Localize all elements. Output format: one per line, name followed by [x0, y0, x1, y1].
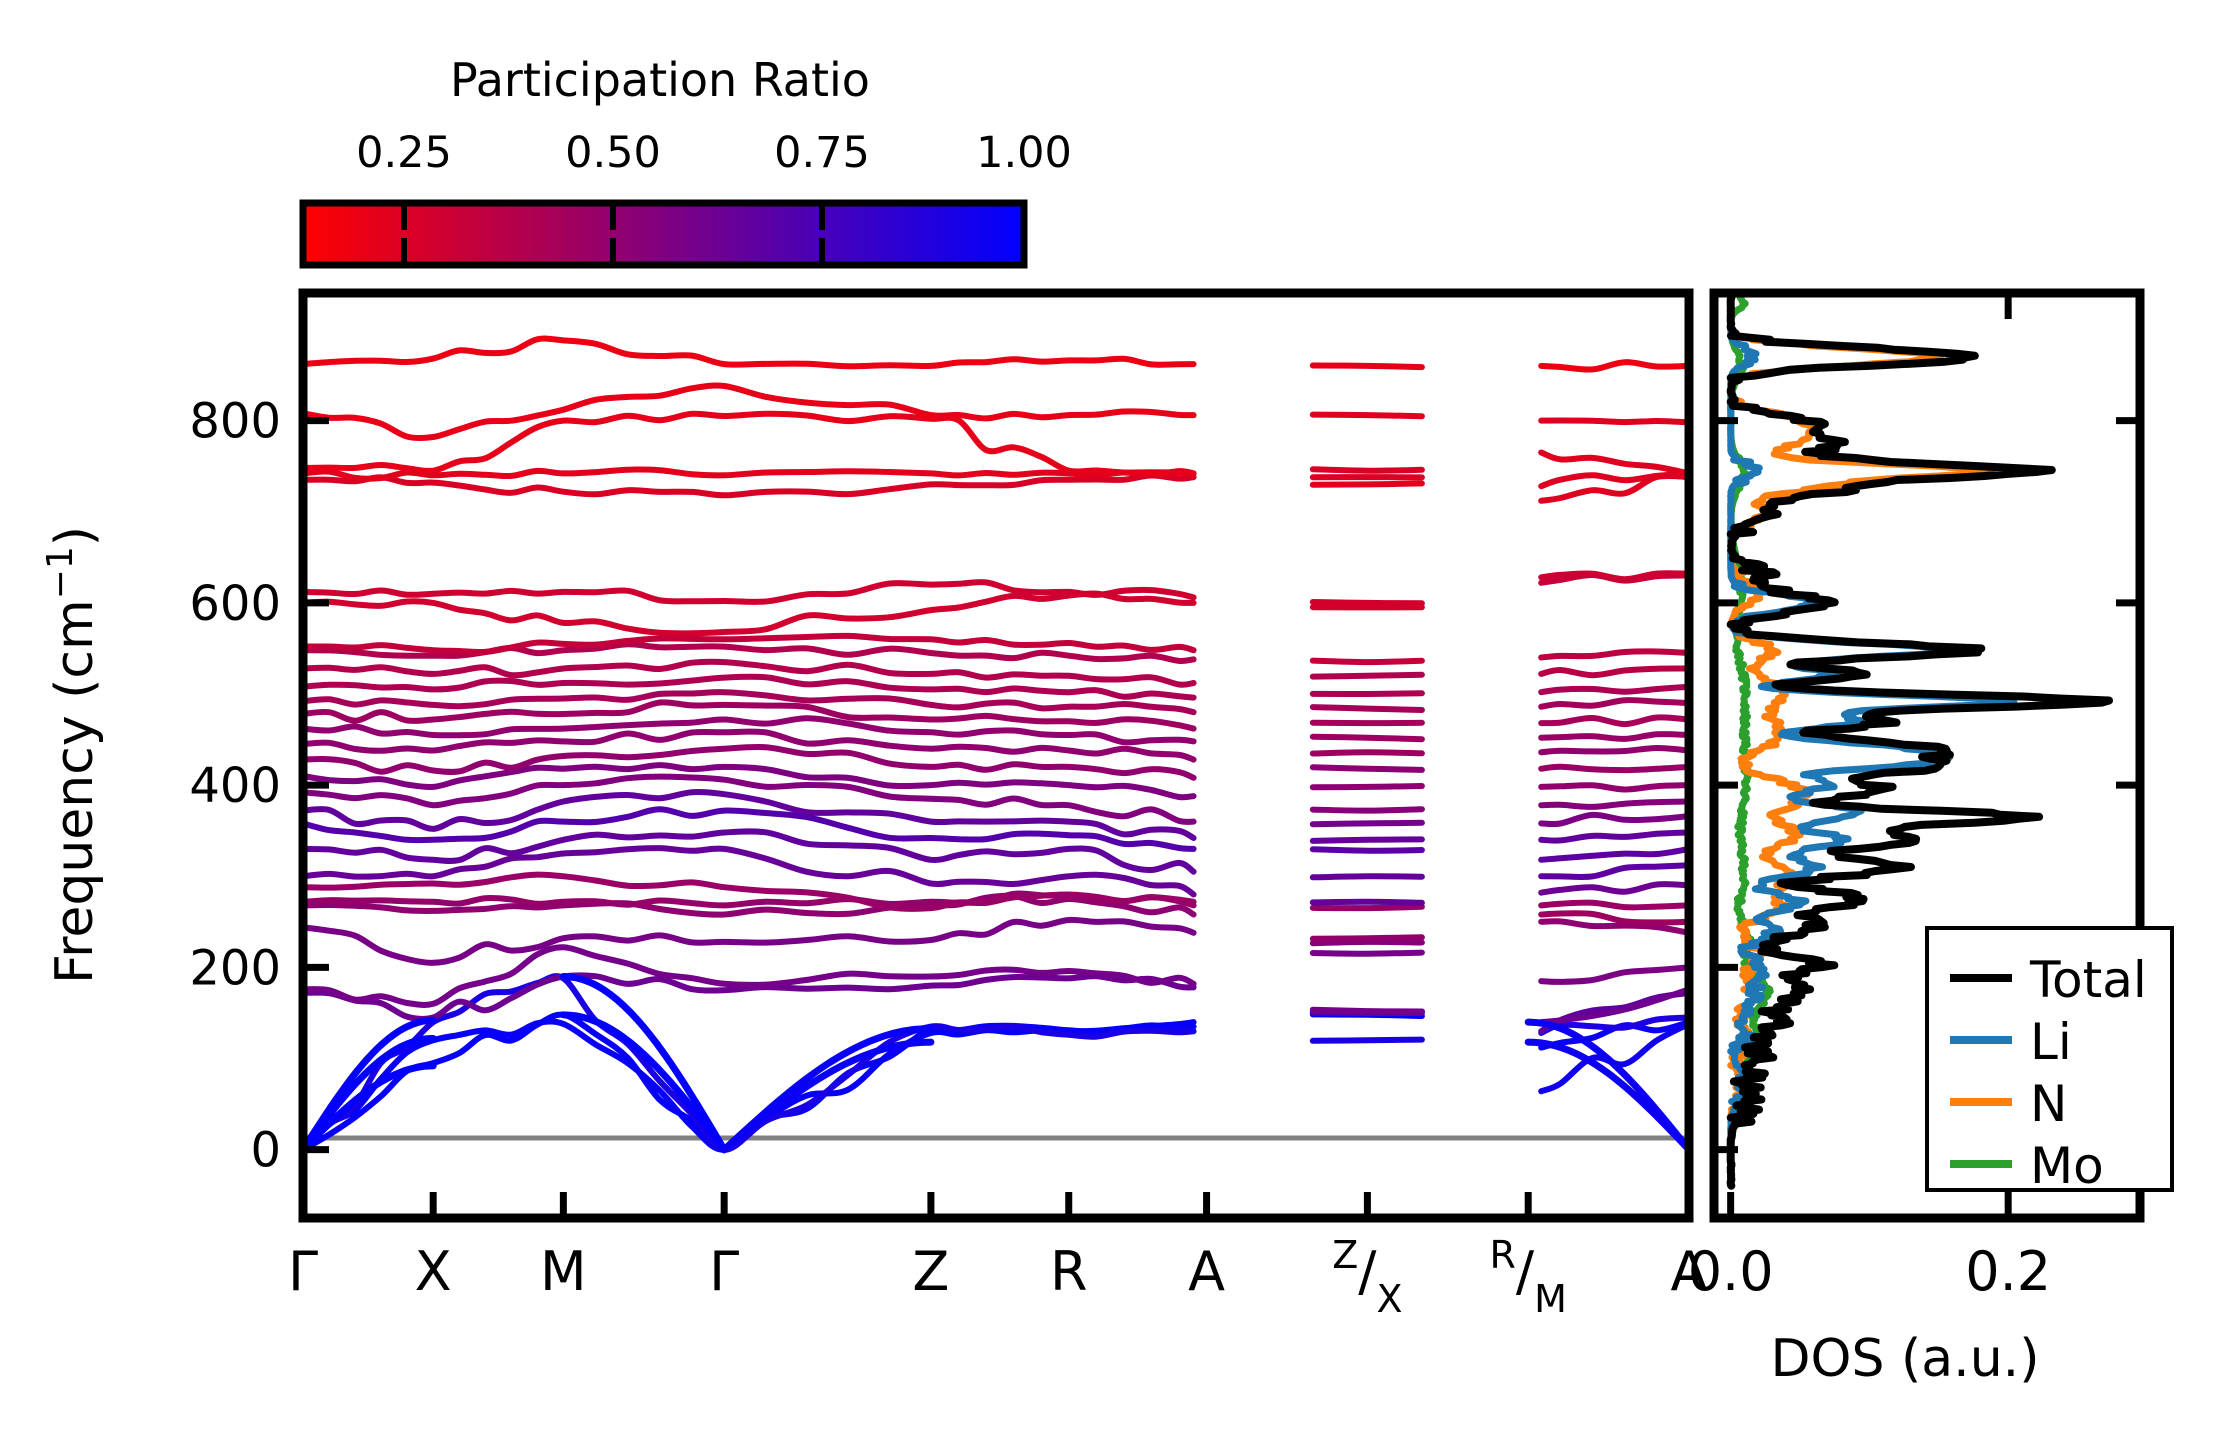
- band-curve: [1313, 809, 1422, 810]
- band-x-tick-label: Γ: [709, 1240, 739, 1303]
- band-curve: [1313, 786, 1422, 787]
- colorbar-tick-3: 1.00: [976, 128, 1072, 178]
- band-y-tick-label: 200: [189, 940, 281, 996]
- band-curve: [1313, 693, 1422, 694]
- band-curve: [1313, 602, 1422, 603]
- dos-x-axis-label: DOS (a.u.): [1771, 1329, 2040, 1389]
- colorbar-tick-2: 0.75: [774, 128, 870, 178]
- band-curve: [1313, 937, 1422, 939]
- band-curve: [1313, 876, 1422, 877]
- band-x-tick-label: Γ: [288, 1240, 318, 1303]
- band-curve: [1313, 839, 1422, 841]
- band-plot-area[interactable]: [303, 293, 1689, 1218]
- figure-root: Participation Ratio 0.25 0.50 0.75 1.00 …: [0, 0, 2222, 1455]
- band-curve: [1313, 707, 1422, 710]
- legend-label[interactable]: Li: [2030, 1013, 2072, 1071]
- band-y-tick-label: 0: [250, 1123, 281, 1179]
- band-y-tick-label: 600: [189, 576, 281, 632]
- band-curve: [1313, 366, 1422, 368]
- legend-label[interactable]: N: [2030, 1075, 2067, 1133]
- band-x-tick-label: R: [1050, 1240, 1088, 1303]
- phonon-figure: Participation Ratio 0.25 0.50 0.75 1.00 …: [0, 0, 2222, 1455]
- band-curve: [1313, 415, 1422, 417]
- band-curve: [1313, 902, 1422, 903]
- dos-legend[interactable]: TotalLiNMo: [1927, 928, 2172, 1195]
- band-curve: [1313, 849, 1422, 850]
- band-curve: [1313, 942, 1422, 943]
- band-curve: [1313, 737, 1422, 740]
- colorbar-gradient[interactable]: [303, 203, 1024, 265]
- band-curve: [1313, 907, 1422, 908]
- band-curve: [1313, 661, 1422, 663]
- band-y-tick-label: 800: [189, 394, 281, 450]
- dos-x-tick-label: 0.2: [1965, 1240, 2051, 1303]
- band-curve: [1313, 752, 1422, 753]
- band-curve: [1313, 1010, 1422, 1012]
- colorbar-tick-0: 0.25: [356, 128, 452, 178]
- band-curve: [1313, 483, 1422, 484]
- band-x-tick-label: M: [540, 1240, 587, 1303]
- legend-label[interactable]: Total: [2029, 951, 2147, 1009]
- band-x-tick-label: Z: [912, 1240, 949, 1303]
- band-curve: [1313, 469, 1422, 470]
- band-curve: [1541, 767, 1689, 770]
- band-curve: [1313, 1040, 1422, 1041]
- colorbar-tick-1: 0.50: [565, 128, 661, 178]
- dos-x-tick-label: 0.0: [1688, 1240, 1774, 1303]
- band-curve: [1313, 675, 1422, 677]
- colorbar-title: Participation Ratio: [450, 53, 870, 107]
- band-curve: [1541, 421, 1689, 423]
- y-axis-label-text: Frequency (cm: [45, 599, 105, 984]
- band-x-tick-label: X: [415, 1240, 452, 1303]
- band-curve: [1313, 767, 1422, 770]
- legend-label[interactable]: Mo: [2030, 1137, 2104, 1195]
- band-x-tick-label: A: [1188, 1240, 1225, 1303]
- band-y-tick-label: 400: [189, 758, 281, 814]
- band-curve: [1313, 823, 1422, 824]
- band-curve: [1313, 953, 1422, 954]
